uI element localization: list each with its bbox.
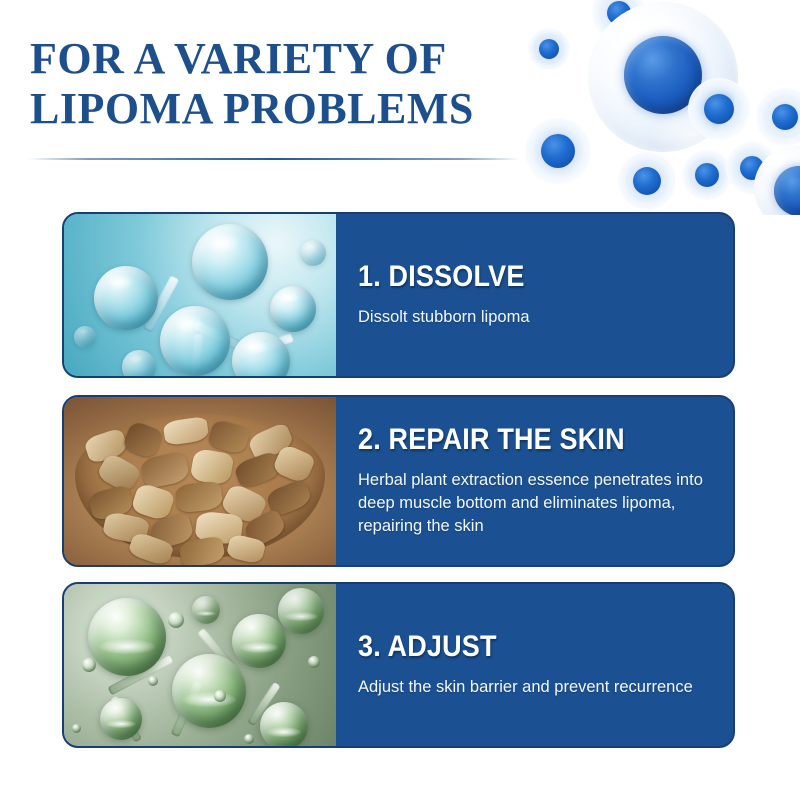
cell-graphic [688,78,750,140]
cell-graphic [726,142,778,194]
step-2-image [64,397,336,565]
step-1-image [64,214,336,376]
step-card-2: 2. REPAIR THE SKIN Herbal plant extracti… [62,395,735,567]
cell-membrane [682,150,732,200]
cell-membrane [588,2,738,152]
cell-sheen [588,2,738,152]
cell-membrane [756,88,800,146]
step-1-heading: 1. DISSOLVE [358,261,676,293]
cell-membrane [688,78,750,140]
cell-nucleus [740,156,764,180]
teal-molecule-artwork [64,214,336,376]
page-title-line-2: LIPOMA PROBLEMS [30,84,550,134]
step-3-image [64,584,336,746]
cell-membrane [592,0,646,40]
cell-graphic [592,0,646,40]
cell-graphic [618,152,676,210]
step-2-heading: 2. REPAIR THE SKIN [358,424,676,456]
cell-nucleus [541,134,575,168]
cell-nucleus [695,163,719,187]
cell-graphic-large [588,2,738,152]
step-3-body: 3. ADJUST Adjust the skin barrier and pr… [336,584,733,746]
step-1-text: Dissolt stubborn lipoma [358,306,703,329]
page-title-line-1: FOR A VARIETY OF [30,34,550,84]
step-1-body: 1. DISSOLVE Dissolt stubborn lipoma [336,214,733,376]
cell-membrane [618,152,676,210]
cell-nucleus [633,167,661,195]
step-2-text: Herbal plant extraction essence penetrat… [358,469,703,538]
cell-nucleus [607,1,631,25]
green-molecule-artwork [64,584,336,746]
step-card-1: 1. DISSOLVE Dissolt stubborn lipoma [62,212,735,378]
step-3-heading: 3. ADJUST [358,631,676,663]
step-3-text: Adjust the skin barrier and prevent recu… [358,676,703,699]
cell-graphic [756,88,800,146]
cell-membrane [726,142,778,194]
page-title: FOR A VARIETY OF LIPOMA PROBLEMS [30,34,550,134]
cell-nucleus [624,36,702,114]
herbal-root-artwork [64,397,336,565]
cell-membrane [754,146,800,215]
cell-graphic-large [754,146,800,215]
step-2-body: 2. REPAIR THE SKIN Herbal plant extracti… [336,397,733,565]
title-divider [28,158,520,160]
cell-sheen [754,146,800,215]
step-card-3: 3. ADJUST Adjust the skin barrier and pr… [62,582,735,748]
cell-nucleus [704,94,734,124]
cell-nucleus [774,166,800,215]
cell-nucleus [772,104,798,130]
cell-graphic [682,150,732,200]
